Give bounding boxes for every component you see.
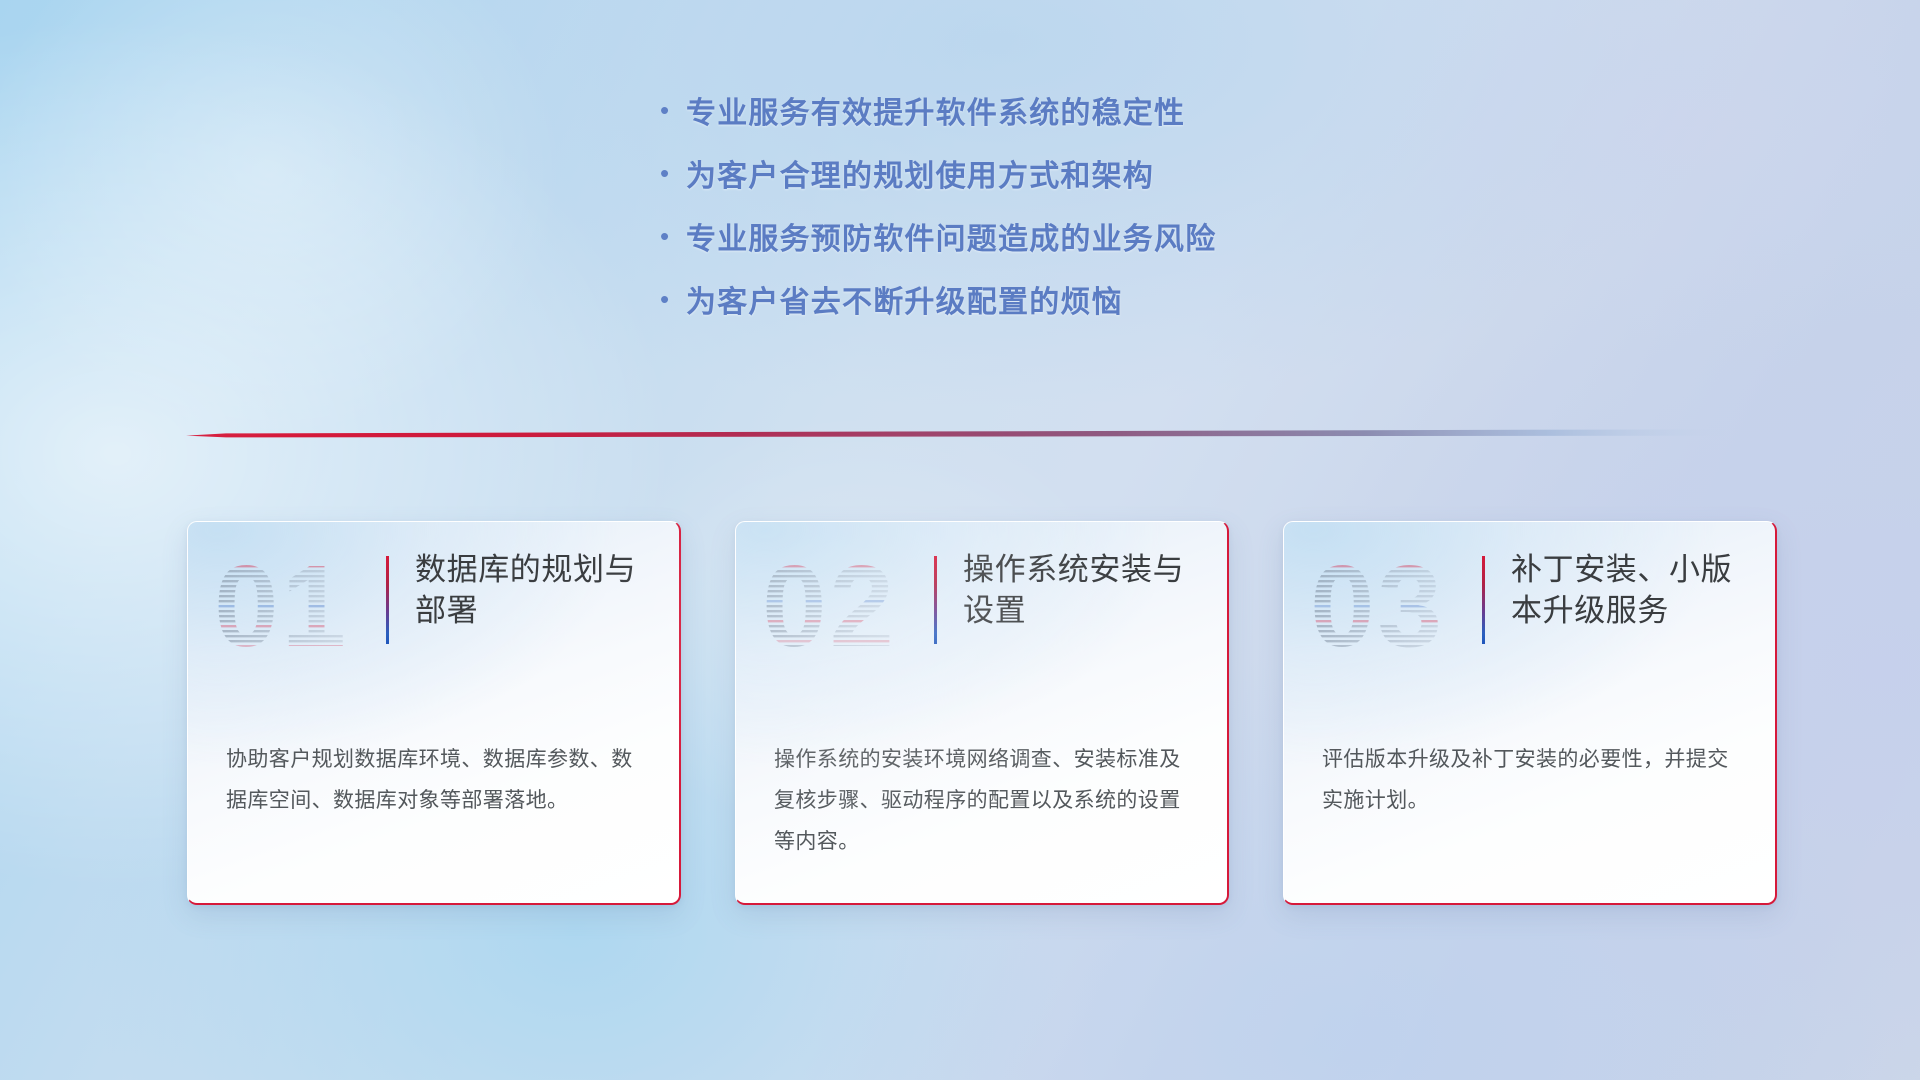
service-card-01[interactable]: 01 bbox=[187, 521, 681, 905]
card-header: 01 bbox=[188, 550, 679, 670]
title-accent-rule bbox=[1482, 556, 1485, 644]
title-accent-rule bbox=[386, 556, 389, 644]
bullet-text: 为客户合理的规划使用方式和架构 bbox=[686, 159, 1154, 195]
list-item: • 为客户合理的规划使用方式和架构 bbox=[660, 159, 1216, 195]
card-title: 补丁安装、小版本升级服务 bbox=[1511, 550, 1761, 632]
service-cards-row: 01 bbox=[0, 521, 1920, 911]
bullet-text: 为客户省去不断升级配置的烦恼 bbox=[686, 285, 1123, 321]
benefits-bullet-list: • 专业服务有效提升软件系统的稳定性 • 为客户合理的规划使用方式和架构 • 专… bbox=[660, 96, 1216, 321]
bullet-dot-icon: • bbox=[660, 286, 686, 312]
card-number-01-graphic: 01 bbox=[214, 550, 382, 662]
list-item: • 为客户省去不断升级配置的烦恼 bbox=[660, 285, 1216, 321]
title-accent-rule bbox=[934, 556, 937, 644]
card-header: 03 bbox=[1284, 550, 1775, 670]
card-title: 数据库的规划与部署 bbox=[415, 550, 653, 632]
bullet-dot-icon: • bbox=[660, 97, 686, 123]
card-body-text: 评估版本升级及补丁安装的必要性，并提交实施计划。 bbox=[1322, 740, 1746, 822]
section-divider bbox=[186, 425, 1738, 443]
card-body-text: 操作系统的安装环境网络调查、安装标准及复核步骤、驱动程序的配置以及系统的设置等内… bbox=[774, 740, 1198, 863]
card-number-02-graphic: 02 bbox=[762, 550, 930, 662]
service-card-03[interactable]: 03 bbox=[1283, 521, 1777, 905]
card-body-text: 协助客户规划数据库环境、数据库参数、数据库空间、数据库对象等部署落地。 bbox=[226, 740, 650, 822]
card-header: 02 bbox=[736, 550, 1227, 670]
bullet-text: 专业服务有效提升软件系统的稳定性 bbox=[686, 96, 1185, 132]
service-card-02[interactable]: 02 bbox=[735, 521, 1229, 905]
card-title: 操作系统安装与设置 bbox=[963, 550, 1201, 632]
list-item: • 专业服务预防软件问题造成的业务风险 bbox=[660, 222, 1216, 258]
card-number-03-graphic: 03 bbox=[1310, 550, 1478, 662]
slide-background: • 专业服务有效提升软件系统的稳定性 • 为客户合理的规划使用方式和架构 • 专… bbox=[0, 0, 1920, 1080]
bullet-dot-icon: • bbox=[660, 160, 686, 186]
bullet-text: 专业服务预防软件问题造成的业务风险 bbox=[686, 222, 1216, 258]
bullet-dot-icon: • bbox=[660, 223, 686, 249]
list-item: • 专业服务有效提升软件系统的稳定性 bbox=[660, 96, 1216, 132]
